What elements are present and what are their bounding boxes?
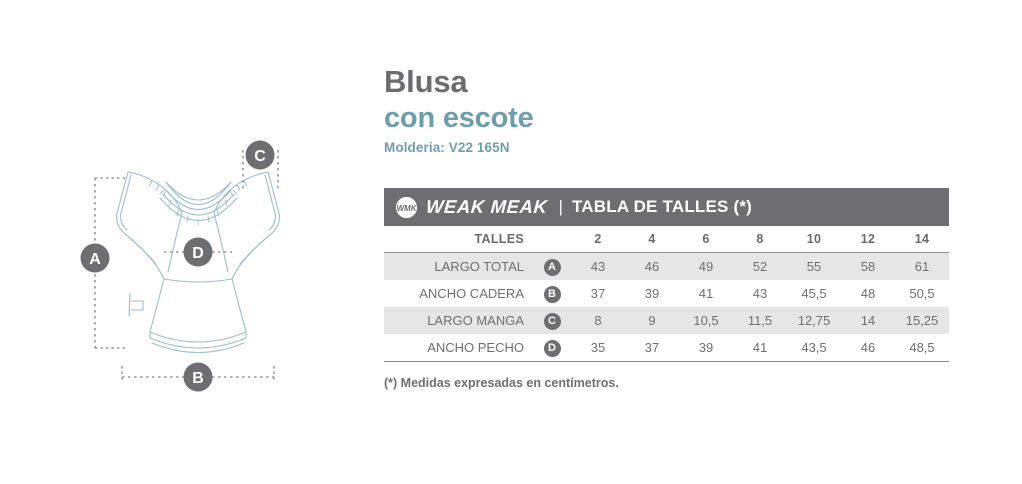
table-footnote: (*) Medidas expresadas en centímetros. (384, 376, 619, 390)
cell-value: 52 (733, 253, 787, 281)
cell-value: 14 (841, 307, 895, 334)
row-label: ANCHO PECHO (384, 334, 533, 362)
cell-value: 49 (679, 253, 733, 281)
table-header-bar: WMK WEAK MEAK | TABLA DE TALLES (*) (384, 188, 949, 226)
cell-value: 12,75 (787, 307, 841, 334)
table-row: LARGO TOTAL A 43 46 49 52 55 58 61 (384, 253, 949, 281)
measure-badge-a: A (544, 259, 561, 276)
marker-d: D (184, 238, 213, 267)
cell-value: 46 (625, 253, 679, 281)
row-badge-cell: A (533, 253, 571, 281)
measure-badge-c: C (544, 313, 561, 330)
cell-value: 37 (571, 280, 625, 307)
size-header-1: 4 (625, 226, 679, 253)
cell-value: 41 (733, 334, 787, 362)
size-chart-table: WMK WEAK MEAK | TABLA DE TALLES (*) TALL… (384, 188, 949, 362)
cell-value: 15,25 (895, 307, 949, 334)
marker-c: C (246, 141, 275, 170)
svg-text:D: D (192, 245, 204, 262)
marker-a: A (81, 244, 110, 273)
page-subtitle: con escote (384, 104, 534, 133)
cell-value: 43 (571, 253, 625, 281)
cell-value: 55 (787, 253, 841, 281)
cell-value: 43,5 (787, 334, 841, 362)
size-header-4: 10 (787, 226, 841, 253)
header-divider: | (559, 197, 563, 217)
cell-value: 41 (679, 280, 733, 307)
weak-meak-logo-icon: WMK (396, 197, 417, 218)
cell-value: 58 (841, 253, 895, 281)
measure-badge-b: B (544, 286, 561, 303)
svg-text:A: A (89, 251, 101, 268)
cell-value: 50,5 (895, 280, 949, 307)
size-header-3: 8 (733, 226, 787, 253)
marker-b: B (184, 363, 213, 392)
pattern-code-label: Molderia: V22 165N (384, 140, 510, 155)
cell-value: 11,5 (733, 307, 787, 334)
cell-value: 9 (625, 307, 679, 334)
svg-text:B: B (192, 370, 204, 387)
cell-value: 48,5 (895, 334, 949, 362)
size-header-6: 14 (895, 226, 949, 253)
svg-text:WMK: WMK (397, 204, 418, 213)
table-header-title: TABLA DE TALLES (*) (572, 197, 752, 217)
size-column-label: TALLES (384, 226, 533, 253)
blouse-technical-sketch: A B C D (0, 0, 360, 484)
cell-value: 8 (571, 307, 625, 334)
table-row: ANCHO CADERA B 37 39 41 43 45,5 48 50,5 (384, 280, 949, 307)
cell-value: 10,5 (679, 307, 733, 334)
table-row: ANCHO PECHO D 35 37 39 41 43,5 46 48,5 (384, 334, 949, 362)
size-header-2: 6 (679, 226, 733, 253)
size-header-0: 2 (571, 226, 625, 253)
cell-value: 43 (733, 280, 787, 307)
cell-value: 39 (679, 334, 733, 362)
row-label: LARGO TOTAL (384, 253, 533, 281)
table-row-sizes: TALLES 2 4 6 8 10 12 14 (384, 226, 949, 253)
cell-value: 39 (625, 280, 679, 307)
table-row: LARGO MANGA C 8 9 10,5 11,5 12,75 14 15,… (384, 307, 949, 334)
cell-value: 35 (571, 334, 625, 362)
size-header-5: 12 (841, 226, 895, 253)
row-badge-cell: B (533, 280, 571, 307)
measure-badge-d: D (544, 340, 561, 357)
cell-value: 48 (841, 280, 895, 307)
page-title: Blusa (384, 66, 467, 97)
row-badge-cell: D (533, 334, 571, 362)
cell-value: 46 (841, 334, 895, 362)
badge-cell-empty (533, 226, 571, 253)
svg-text:C: C (254, 148, 266, 165)
row-label: LARGO MANGA (384, 307, 533, 334)
cell-value: 61 (895, 253, 949, 281)
row-badge-cell: C (533, 307, 571, 334)
measurements-table: TALLES 2 4 6 8 10 12 14 LARGO TOTAL A 43 (384, 226, 949, 362)
cell-value: 45,5 (787, 280, 841, 307)
garment-diagram-panel: A B C D (0, 0, 360, 484)
row-label: ANCHO CADERA (384, 280, 533, 307)
brand-name: WEAK MEAK (425, 196, 548, 218)
cell-value: 37 (625, 334, 679, 362)
